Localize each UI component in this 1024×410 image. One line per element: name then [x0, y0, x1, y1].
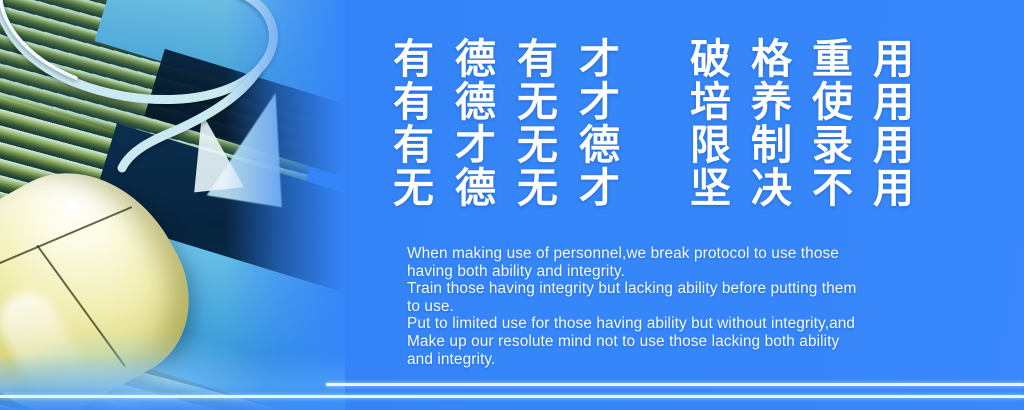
headline-row: 有 德 无 才 [393, 81, 620, 124]
headline-char: 录 [812, 124, 873, 167]
english-line: Put to limited use for those having abil… [407, 315, 947, 333]
headline-char: 无 [517, 124, 579, 167]
photo-fade-right [225, 0, 345, 410]
headline-char: 决 [751, 167, 812, 210]
headline-char: 格 [751, 38, 812, 81]
headline-char: 才 [455, 124, 517, 167]
english-translation: When making use of personnel,we break pr… [407, 245, 947, 368]
headline-left-block: 有 德 有 才 有 德 无 才 有 才 无 德 无 [393, 38, 620, 210]
headline-row: 破 格 重 用 [690, 38, 934, 81]
headline-char: 用 [873, 81, 934, 124]
english-line: having both ability and integrity. [407, 263, 947, 281]
headline-char: 有 [517, 38, 579, 81]
english-line: to use. [407, 298, 947, 316]
headline-char: 有 [393, 81, 455, 124]
headline-char: 才 [579, 81, 620, 124]
headline-char: 才 [579, 38, 620, 81]
english-line: Make up our resolute mind not to use tho… [407, 333, 947, 351]
headline-row: 有 才 无 德 [393, 124, 620, 167]
headline-row: 无 德 无 才 [393, 167, 620, 210]
headline-char: 用 [873, 38, 934, 81]
headline-char: 限 [690, 124, 751, 167]
books-and-mouse-photo [0, 0, 345, 410]
content-panel: 有 德 有 才 有 德 无 才 有 才 无 德 无 [345, 0, 1024, 410]
headline-char: 德 [579, 124, 620, 167]
headline-char: 用 [873, 124, 934, 167]
photo-fade-bottom [0, 354, 345, 410]
headline-row: 限 制 录 用 [690, 124, 934, 167]
headline-char: 才 [579, 167, 620, 210]
headline-char: 不 [812, 167, 873, 210]
headline-row: 有 德 有 才 [393, 38, 620, 81]
headline-char: 无 [517, 167, 579, 210]
headline-row: 坚 决 不 用 [690, 167, 934, 210]
headline-char: 德 [455, 81, 517, 124]
headline-char: 坚 [690, 167, 751, 210]
headline-char: 无 [517, 81, 579, 124]
headline-char: 破 [690, 38, 751, 81]
headline-char: 使 [812, 81, 873, 124]
headline-char: 制 [751, 124, 812, 167]
headline-row: 培 养 使 用 [690, 81, 934, 124]
headline-char: 德 [455, 38, 517, 81]
headline-grids: 有 德 有 才 有 德 无 才 有 才 无 德 无 [393, 38, 934, 210]
headline-char: 重 [812, 38, 873, 81]
english-line: When making use of personnel,we break pr… [407, 245, 947, 263]
english-line: and integrity. [407, 351, 947, 369]
headline-char: 养 [751, 81, 812, 124]
banner-poster: 有 德 有 才 有 德 无 才 有 才 无 德 无 [0, 0, 1024, 410]
headline-char: 有 [393, 38, 455, 81]
divider-rule-upper [326, 383, 1024, 386]
divider-rule-lower [0, 395, 1024, 398]
english-line: Train those having integrity but lacking… [407, 280, 947, 298]
headline-char: 有 [393, 124, 455, 167]
headline-char: 用 [873, 167, 934, 210]
headline-right-block: 破 格 重 用 培 养 使 用 限 制 录 用 坚 [690, 38, 934, 210]
headline-char: 德 [455, 167, 517, 210]
headline-char: 培 [690, 81, 751, 124]
headline-char: 无 [393, 167, 455, 210]
